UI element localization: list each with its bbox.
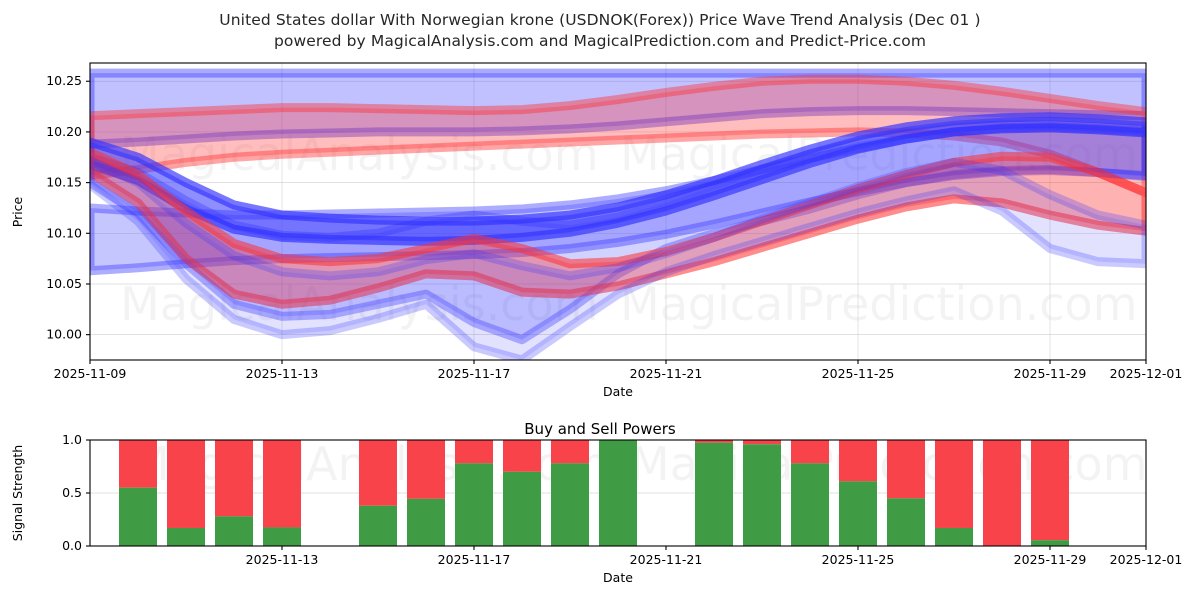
- bar-sell-segment[interactable]: [359, 440, 397, 506]
- bar-ytick-label: 0.0: [62, 538, 82, 553]
- bar-sell-segment[interactable]: [551, 440, 589, 463]
- bar-sell-segment[interactable]: [455, 440, 493, 463]
- main-xtick-label: 2025-11-29: [1014, 366, 1087, 381]
- bar-sell-segment[interactable]: [791, 440, 829, 463]
- bar-buy-segment[interactable]: [503, 472, 541, 546]
- main-xtick-label: 2025-12-01: [1110, 366, 1183, 381]
- bar-sell-segment[interactable]: [263, 440, 301, 527]
- bar-sell-segment[interactable]: [215, 440, 253, 516]
- bar-buy-segment[interactable]: [1031, 540, 1069, 546]
- main-ytick-label: 10.15: [46, 175, 82, 190]
- page-title: United States dollar With Norwegian kron…: [0, 10, 1200, 52]
- bar-yaxis-label: Signal Strength: [10, 445, 25, 541]
- subplot-title-buy-sell-powers: Buy and Sell Powers: [0, 420, 1200, 438]
- main-yaxis-label: Price: [10, 196, 25, 227]
- bar-buy-segment[interactable]: [407, 499, 445, 546]
- main-xtick-label: 2025-11-13: [246, 366, 319, 381]
- bar-sell-segment[interactable]: [887, 440, 925, 498]
- bar-sell-segment[interactable]: [119, 440, 157, 488]
- bar-buy-segment[interactable]: [359, 506, 397, 546]
- bar-sell-segment[interactable]: [503, 440, 541, 472]
- bar-buy-segment[interactable]: [887, 498, 925, 546]
- bar-buy-segment[interactable]: [935, 528, 973, 546]
- main-xtick-label: 2025-11-21: [630, 366, 703, 381]
- bar-sell-segment[interactable]: [167, 440, 205, 528]
- bar-buy-segment[interactable]: [167, 528, 205, 546]
- bar-xtick-label: 2025-12-01: [1110, 552, 1183, 567]
- chart-canvas: MagicalAnalysis.com MagicalPrediction.co…: [0, 0, 1200, 600]
- bar-buy-segment[interactable]: [119, 488, 157, 546]
- main-ytick-label: 10.20: [46, 124, 82, 139]
- bar-sell-segment[interactable]: [1031, 440, 1069, 540]
- bar-xtick-label: 2025-11-29: [1014, 552, 1087, 567]
- bar-buy-segment[interactable]: [791, 463, 829, 546]
- bar-buy-segment[interactable]: [743, 444, 781, 546]
- bar-sell-segment[interactable]: [743, 440, 781, 444]
- bar-xtick-label: 2025-11-17: [438, 552, 511, 567]
- chart-page: United States dollar With Norwegian kron…: [0, 0, 1200, 600]
- watermark-text: MagicalPrediction.com: [620, 277, 1138, 331]
- bar-sell-segment[interactable]: [983, 440, 1021, 546]
- main-xtick-label: 2025-11-17: [438, 366, 511, 381]
- bar-xaxis-label: Date: [603, 570, 633, 585]
- main-xtick-label: 2025-11-25: [822, 366, 895, 381]
- bar-ytick-label: 0.5: [62, 485, 82, 500]
- bar-buy-segment[interactable]: [455, 463, 493, 546]
- bar-xtick-label: 2025-11-21: [630, 552, 703, 567]
- bar-xtick-label: 2025-11-25: [822, 552, 895, 567]
- main-ytick-label: 10.00: [46, 327, 82, 342]
- title-line-1: United States dollar With Norwegian kron…: [0, 10, 1200, 31]
- bar-buy-segment[interactable]: [551, 463, 589, 546]
- bar-xtick-label: 2025-11-13: [246, 552, 319, 567]
- bar-sell-segment[interactable]: [407, 440, 445, 499]
- main-ytick-label: 10.25: [46, 73, 82, 88]
- bar-buy-segment[interactable]: [695, 443, 733, 546]
- bar-buy-segment[interactable]: [263, 527, 301, 546]
- main-ytick-label: 10.05: [46, 276, 82, 291]
- bar-buy-segment[interactable]: [839, 481, 877, 546]
- bar-buy-segment[interactable]: [215, 516, 253, 546]
- bar-sell-segment[interactable]: [935, 440, 973, 528]
- title-line-2: powered by MagicalAnalysis.com and Magic…: [0, 31, 1200, 52]
- main-ytick-label: 10.10: [46, 225, 82, 240]
- bar-sell-segment[interactable]: [839, 440, 877, 481]
- main-xtick-label: 2025-11-09: [54, 366, 127, 381]
- bar-buy-segment[interactable]: [599, 440, 637, 546]
- main-xaxis-label: Date: [603, 384, 633, 399]
